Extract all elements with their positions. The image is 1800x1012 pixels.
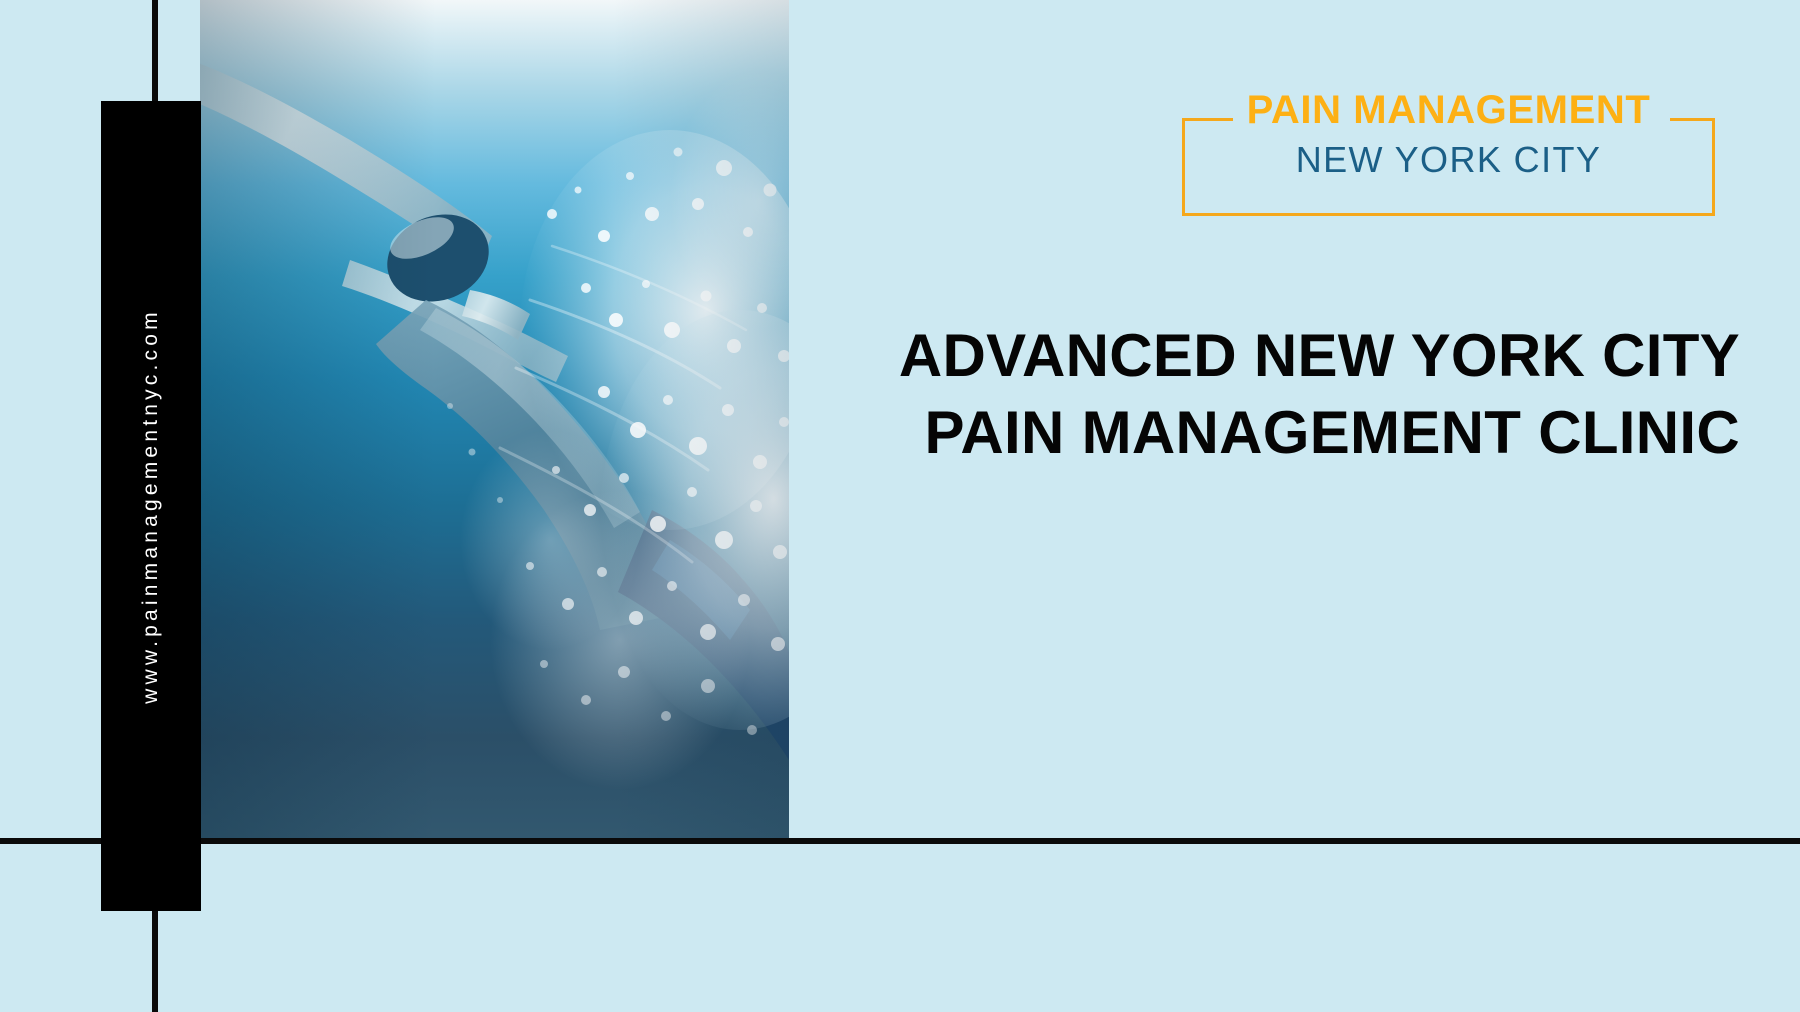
headline-line-2: PAIN MANAGEMENT CLINIC (820, 395, 1740, 472)
logo-secondary-text: NEW YORK CITY (1182, 142, 1715, 178)
website-url-bar: www.painmanagementnyc.com (101, 101, 201, 911)
photo-vignette (200, 0, 789, 838)
website-url-text: www.painmanagementnyc.com (139, 308, 163, 704)
banner-canvas: www.painmanagementnyc.com PAIN MANAGEMEN… (0, 0, 1800, 1012)
brand-logo: PAIN MANAGEMENT NEW YORK CITY (1182, 118, 1715, 216)
logo-primary-text: PAIN MANAGEMENT (1182, 90, 1715, 130)
horizontal-rule (0, 838, 1800, 844)
page-title: ADVANCED NEW YORK CITY PAIN MANAGEMENT C… (820, 318, 1740, 472)
headline-line-1: ADVANCED NEW YORK CITY (820, 318, 1740, 395)
swimmer-photo (200, 0, 789, 838)
